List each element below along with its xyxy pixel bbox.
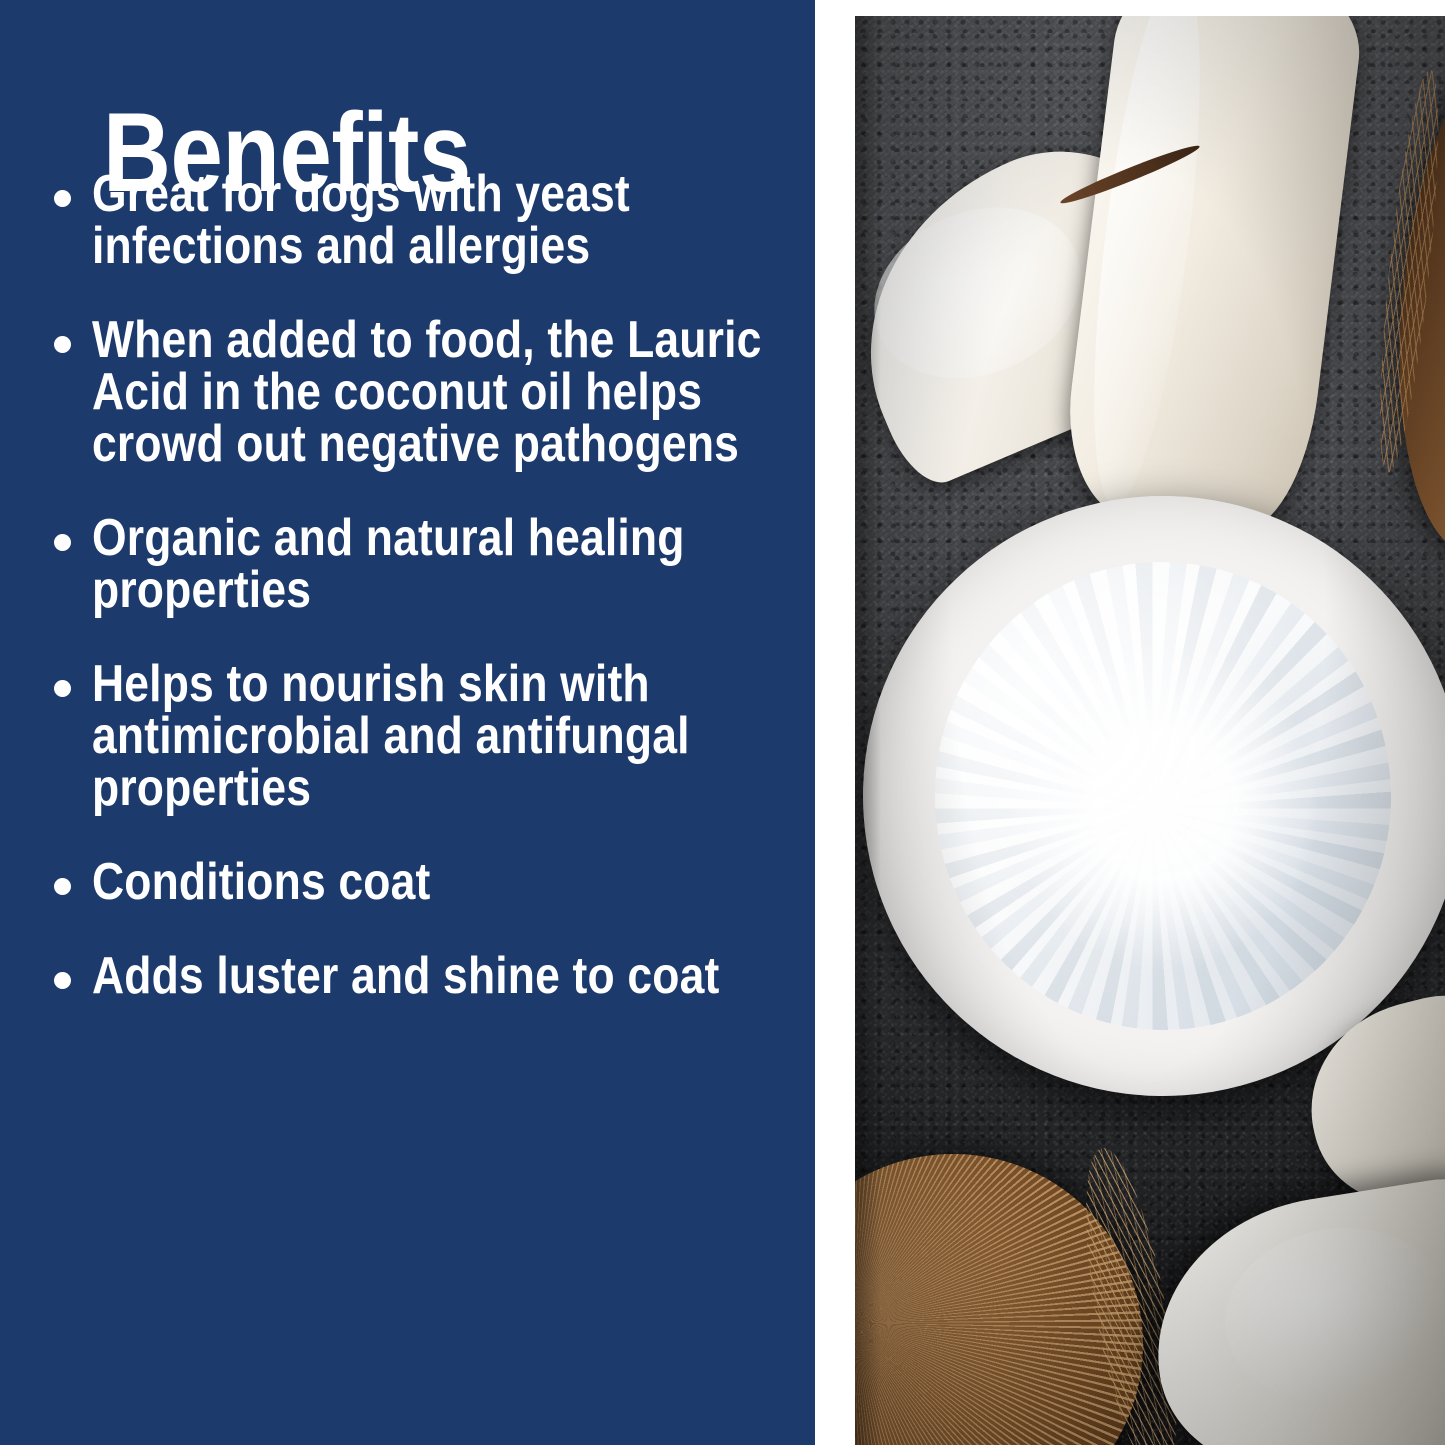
- benefits-infographic: Benefits Great for dogs with yeast infec…: [0, 0, 1445, 1445]
- coconut-oil: [919, 547, 1407, 1046]
- coconut-oil-photo: [855, 16, 1445, 1445]
- benefit-text: Adds luster and shine to coat: [92, 950, 806, 1002]
- benefit-text: Helps to nourish skin with antimicrobial…: [92, 658, 806, 814]
- benefits-panel: Benefits Great for dogs with yeast infec…: [0, 0, 815, 1445]
- benefit-text: When added to food, the Lauric Acid in t…: [92, 314, 806, 470]
- list-item-luster-shine: Adds luster and shine to coat: [0, 950, 815, 1002]
- benefit-text: Great for dogs with yeast infections and…: [92, 168, 806, 272]
- list-item-yeast-allergies: Great for dogs with yeast infections and…: [0, 168, 815, 272]
- bullet-icon: [54, 972, 71, 989]
- benefit-text: Organic and natural healing properties: [92, 512, 806, 616]
- benefits-list: Great for dogs with yeast infections and…: [0, 168, 815, 1002]
- bullet-icon: [54, 680, 71, 697]
- list-item-nourish-skin: Helps to nourish skin with antimicrobial…: [0, 658, 815, 814]
- list-item-lauric-acid: When added to food, the Lauric Acid in t…: [0, 314, 815, 470]
- coconut-husk-bottom-left: [855, 1124, 1173, 1445]
- benefit-text: Conditions coat: [92, 856, 806, 908]
- bullet-icon: [54, 534, 71, 551]
- bullet-icon: [54, 336, 71, 353]
- bullet-icon: [54, 190, 71, 207]
- list-item-conditions-coat: Conditions coat: [0, 856, 815, 908]
- list-item-organic-natural: Organic and natural healing properties: [0, 512, 815, 616]
- bullet-icon: [54, 878, 71, 895]
